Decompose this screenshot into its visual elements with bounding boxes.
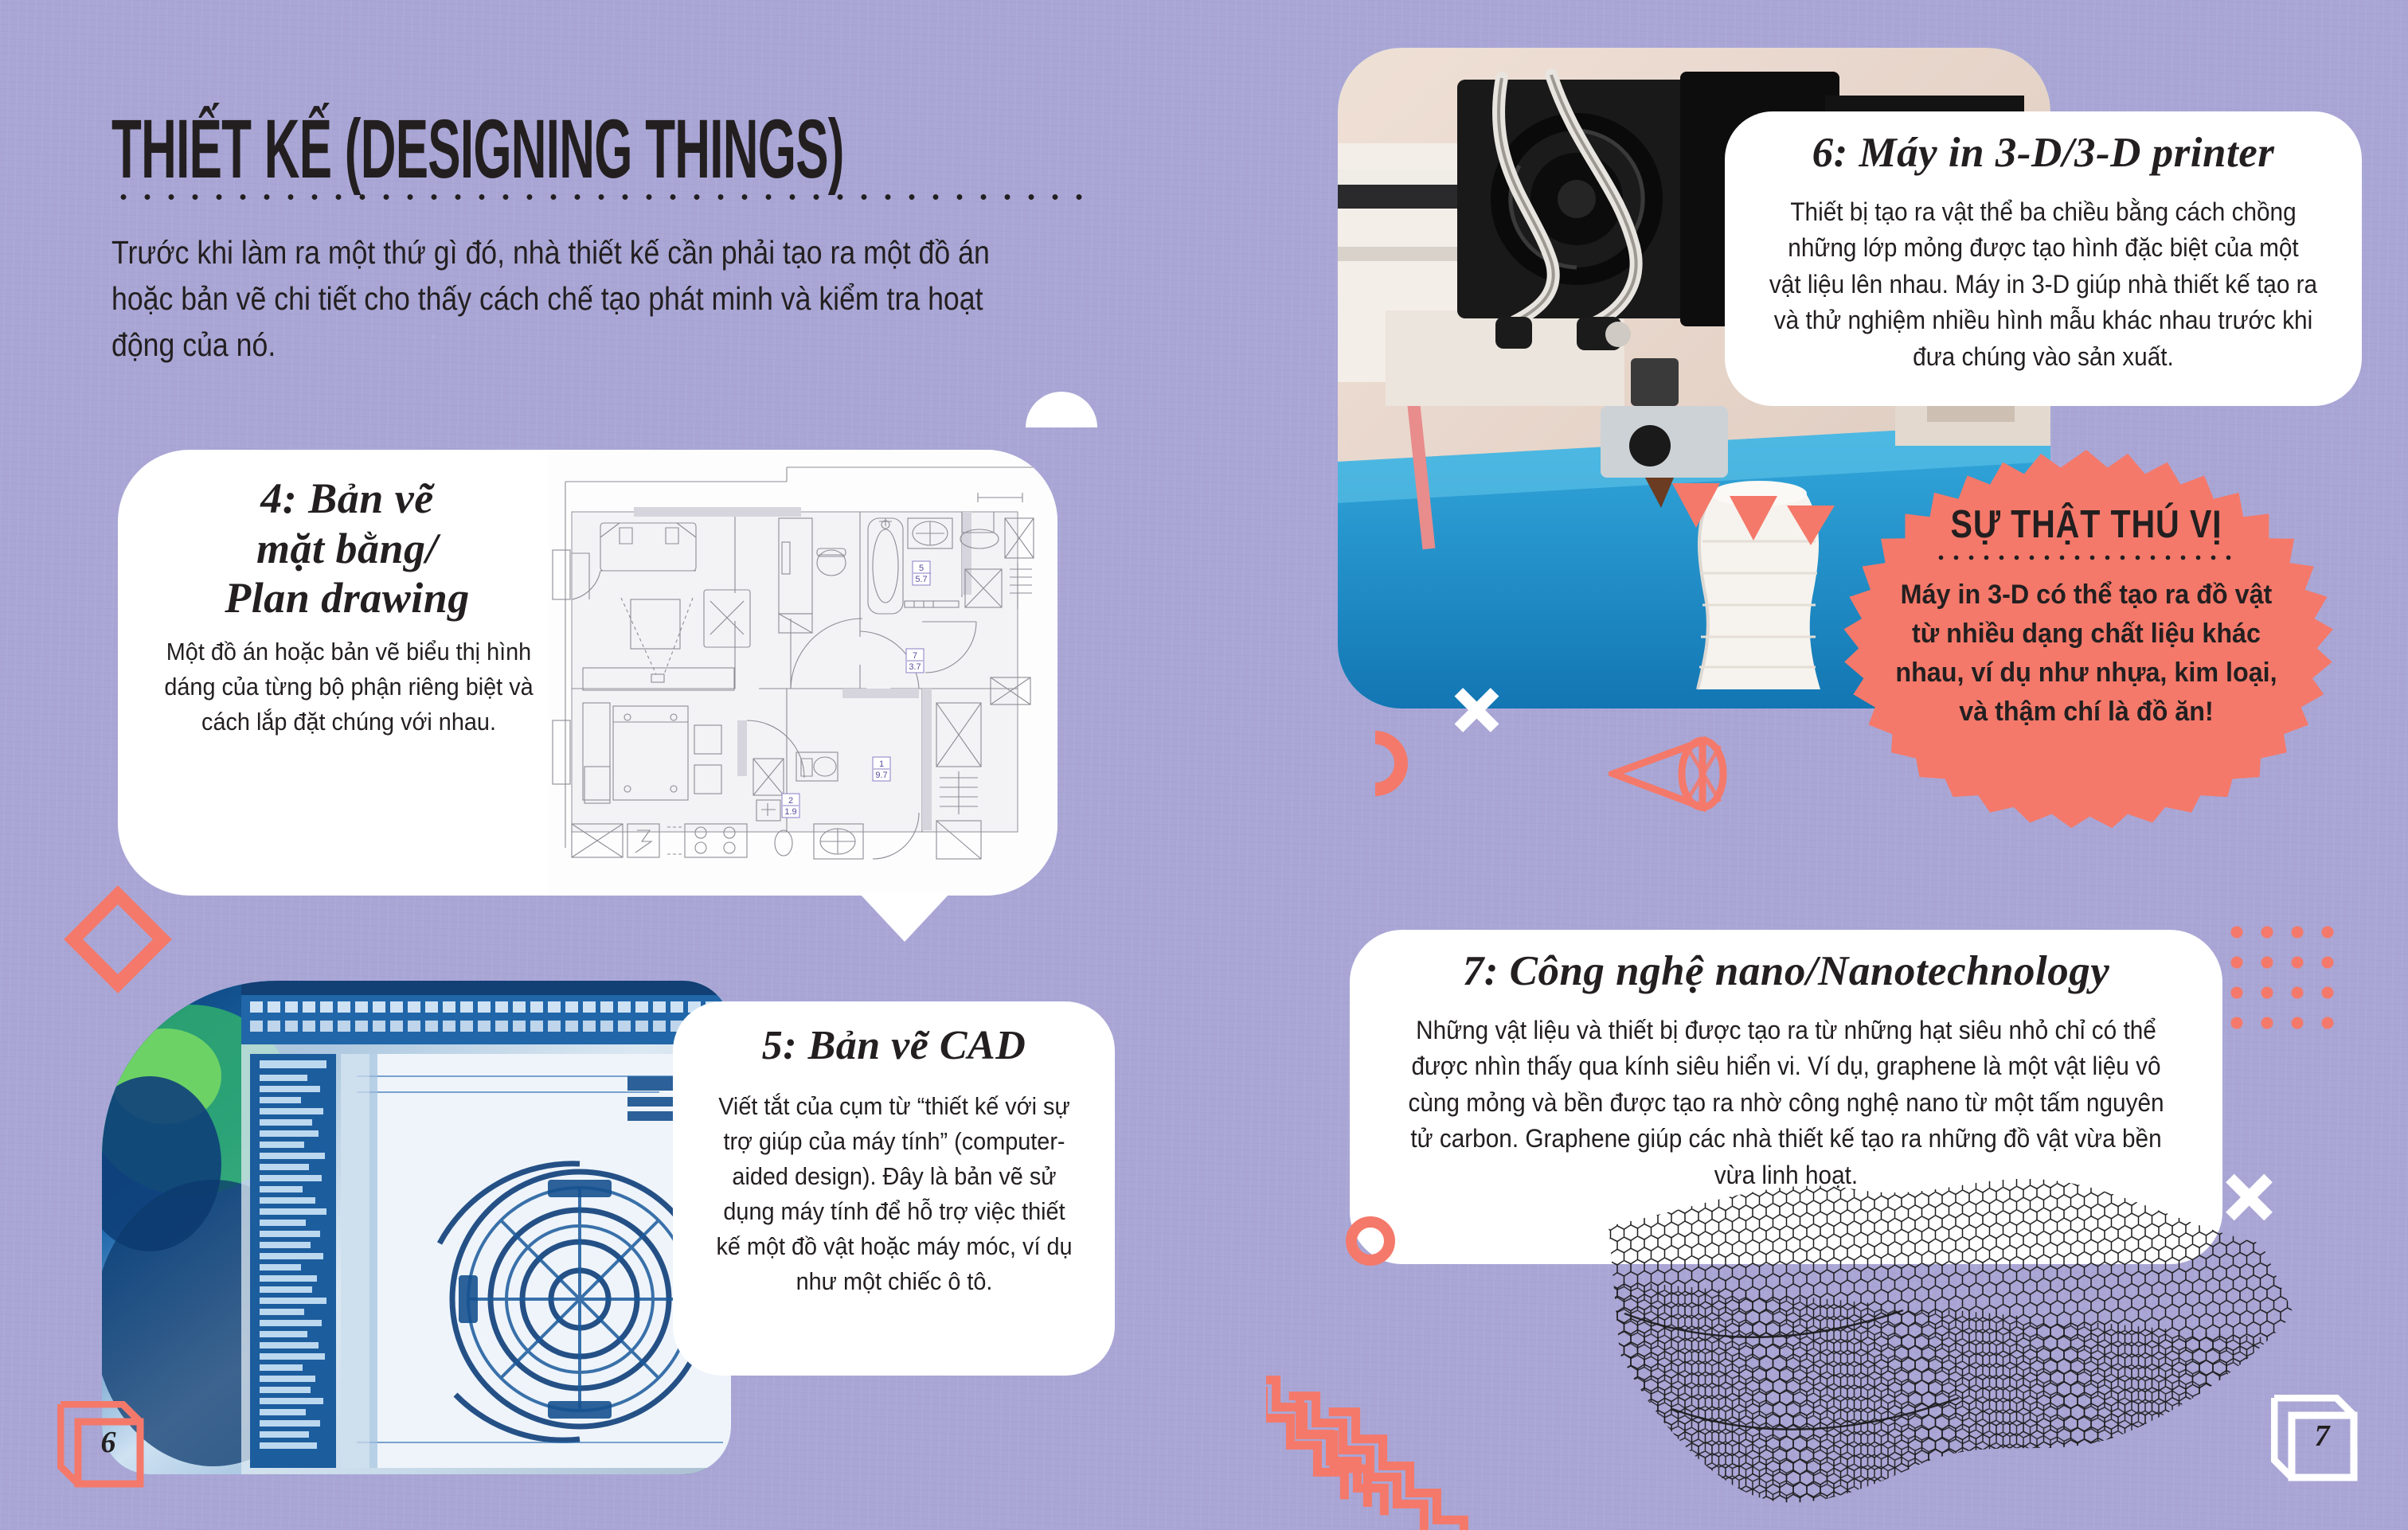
entry-card-3d-printer: 6: Máy in 3-D/3-D printer Thiết bị tạo r… (1725, 111, 2362, 406)
page-number-right: 7 (2298, 1419, 2346, 1454)
svg-text:5.7: 5.7 (915, 575, 927, 584)
fun-fact-heading: SỰ THẬT THÚ VỊ (1879, 502, 2294, 547)
svg-text:1: 1 (879, 759, 884, 769)
entry-title-line-1: 4: Bản vẽ (140, 474, 554, 524)
entry-body-plan-drawing: Một đồ án hoặc bản vẽ biểu thị hình dáng… (156, 634, 541, 740)
zigzag-lines-icon (1266, 1282, 1529, 1530)
title-dotted-rule (111, 193, 1099, 201)
entry-title-plan-drawing: 4: Bản vẽ mặt bằng/ Plan drawing (140, 474, 554, 623)
svg-text:2: 2 (788, 796, 793, 806)
book-spread: THIẾT KẾ (DESIGNING THINGS) Trước khi là… (0, 0, 2408, 1530)
svg-text:9.7: 9.7 (875, 771, 887, 780)
x-mark-icon (1451, 685, 1502, 736)
cone-outline-icon (1609, 736, 1728, 812)
fun-fact-dotted-rule (1933, 555, 2234, 560)
entry-body-nanotechnology: Những vật liệu và thiết bị được tạo ra t… (1404, 1013, 2168, 1193)
svg-text:1.9: 1.9 (784, 807, 796, 817)
intro-paragraph: Trước khi làm ra một thứ gì đó, nhà thiế… (111, 229, 1009, 369)
entry-title-line-3: Plan drawing (140, 573, 554, 623)
entry-title-nanotechnology: 7: Công nghệ nano/Nanotechnology (1350, 947, 2222, 995)
fun-fact-body: Máy in 3-D có thể tạo ra đồ vật từ nhiều… (1894, 576, 2279, 732)
page-number-left: 6 (84, 1425, 132, 1460)
cad-software-screen-image (102, 981, 731, 1474)
graphene-mesh-image (1577, 1170, 2333, 1530)
diamond-outline-icon (64, 885, 172, 993)
svg-text:5: 5 (919, 564, 924, 573)
circle-outline-icon (1346, 1216, 1395, 1266)
entry-title-3d-printer: 6: Máy in 3-D/3-D printer (1725, 129, 2362, 177)
entry-card-cad: 5: Bản vẽ CAD Viết tắt của cụm từ “thiết… (673, 1001, 1115, 1376)
entry-card-plan-drawing: 5 5.7 7 3.7 1 9.7 2 1.9 (118, 450, 1057, 896)
svg-text:7: 7 (913, 651, 917, 661)
architectural-floor-plan-image: 5 5.7 7 3.7 1 9.7 2 1.9 (548, 450, 1057, 896)
semicircle-icon (1026, 392, 1097, 427)
entry-title-line-2: mặt bằng/ (140, 524, 554, 574)
page-number-cube-right: 7 (2271, 1395, 2360, 1484)
entry-body-cad: Viết tắt của cụm từ “thiết kế với sự trợ… (709, 1089, 1080, 1299)
svg-text:3.7: 3.7 (909, 662, 921, 672)
speech-tail (858, 892, 951, 942)
crescent-icon (1343, 731, 1408, 796)
page-title: THIẾT KẾ (DESIGNING THINGS) (111, 102, 844, 198)
entry-body-3d-printer: Thiết bị tạo ra vật thể ba chiều bằng cá… (1769, 194, 2317, 375)
triangles-icon (1672, 474, 1871, 545)
dot-grid-icon (2222, 917, 2343, 1038)
entry-title-cad: 5: Bản vẽ CAD (673, 1022, 1115, 1069)
page-number-cube-left: 6 (57, 1401, 147, 1490)
